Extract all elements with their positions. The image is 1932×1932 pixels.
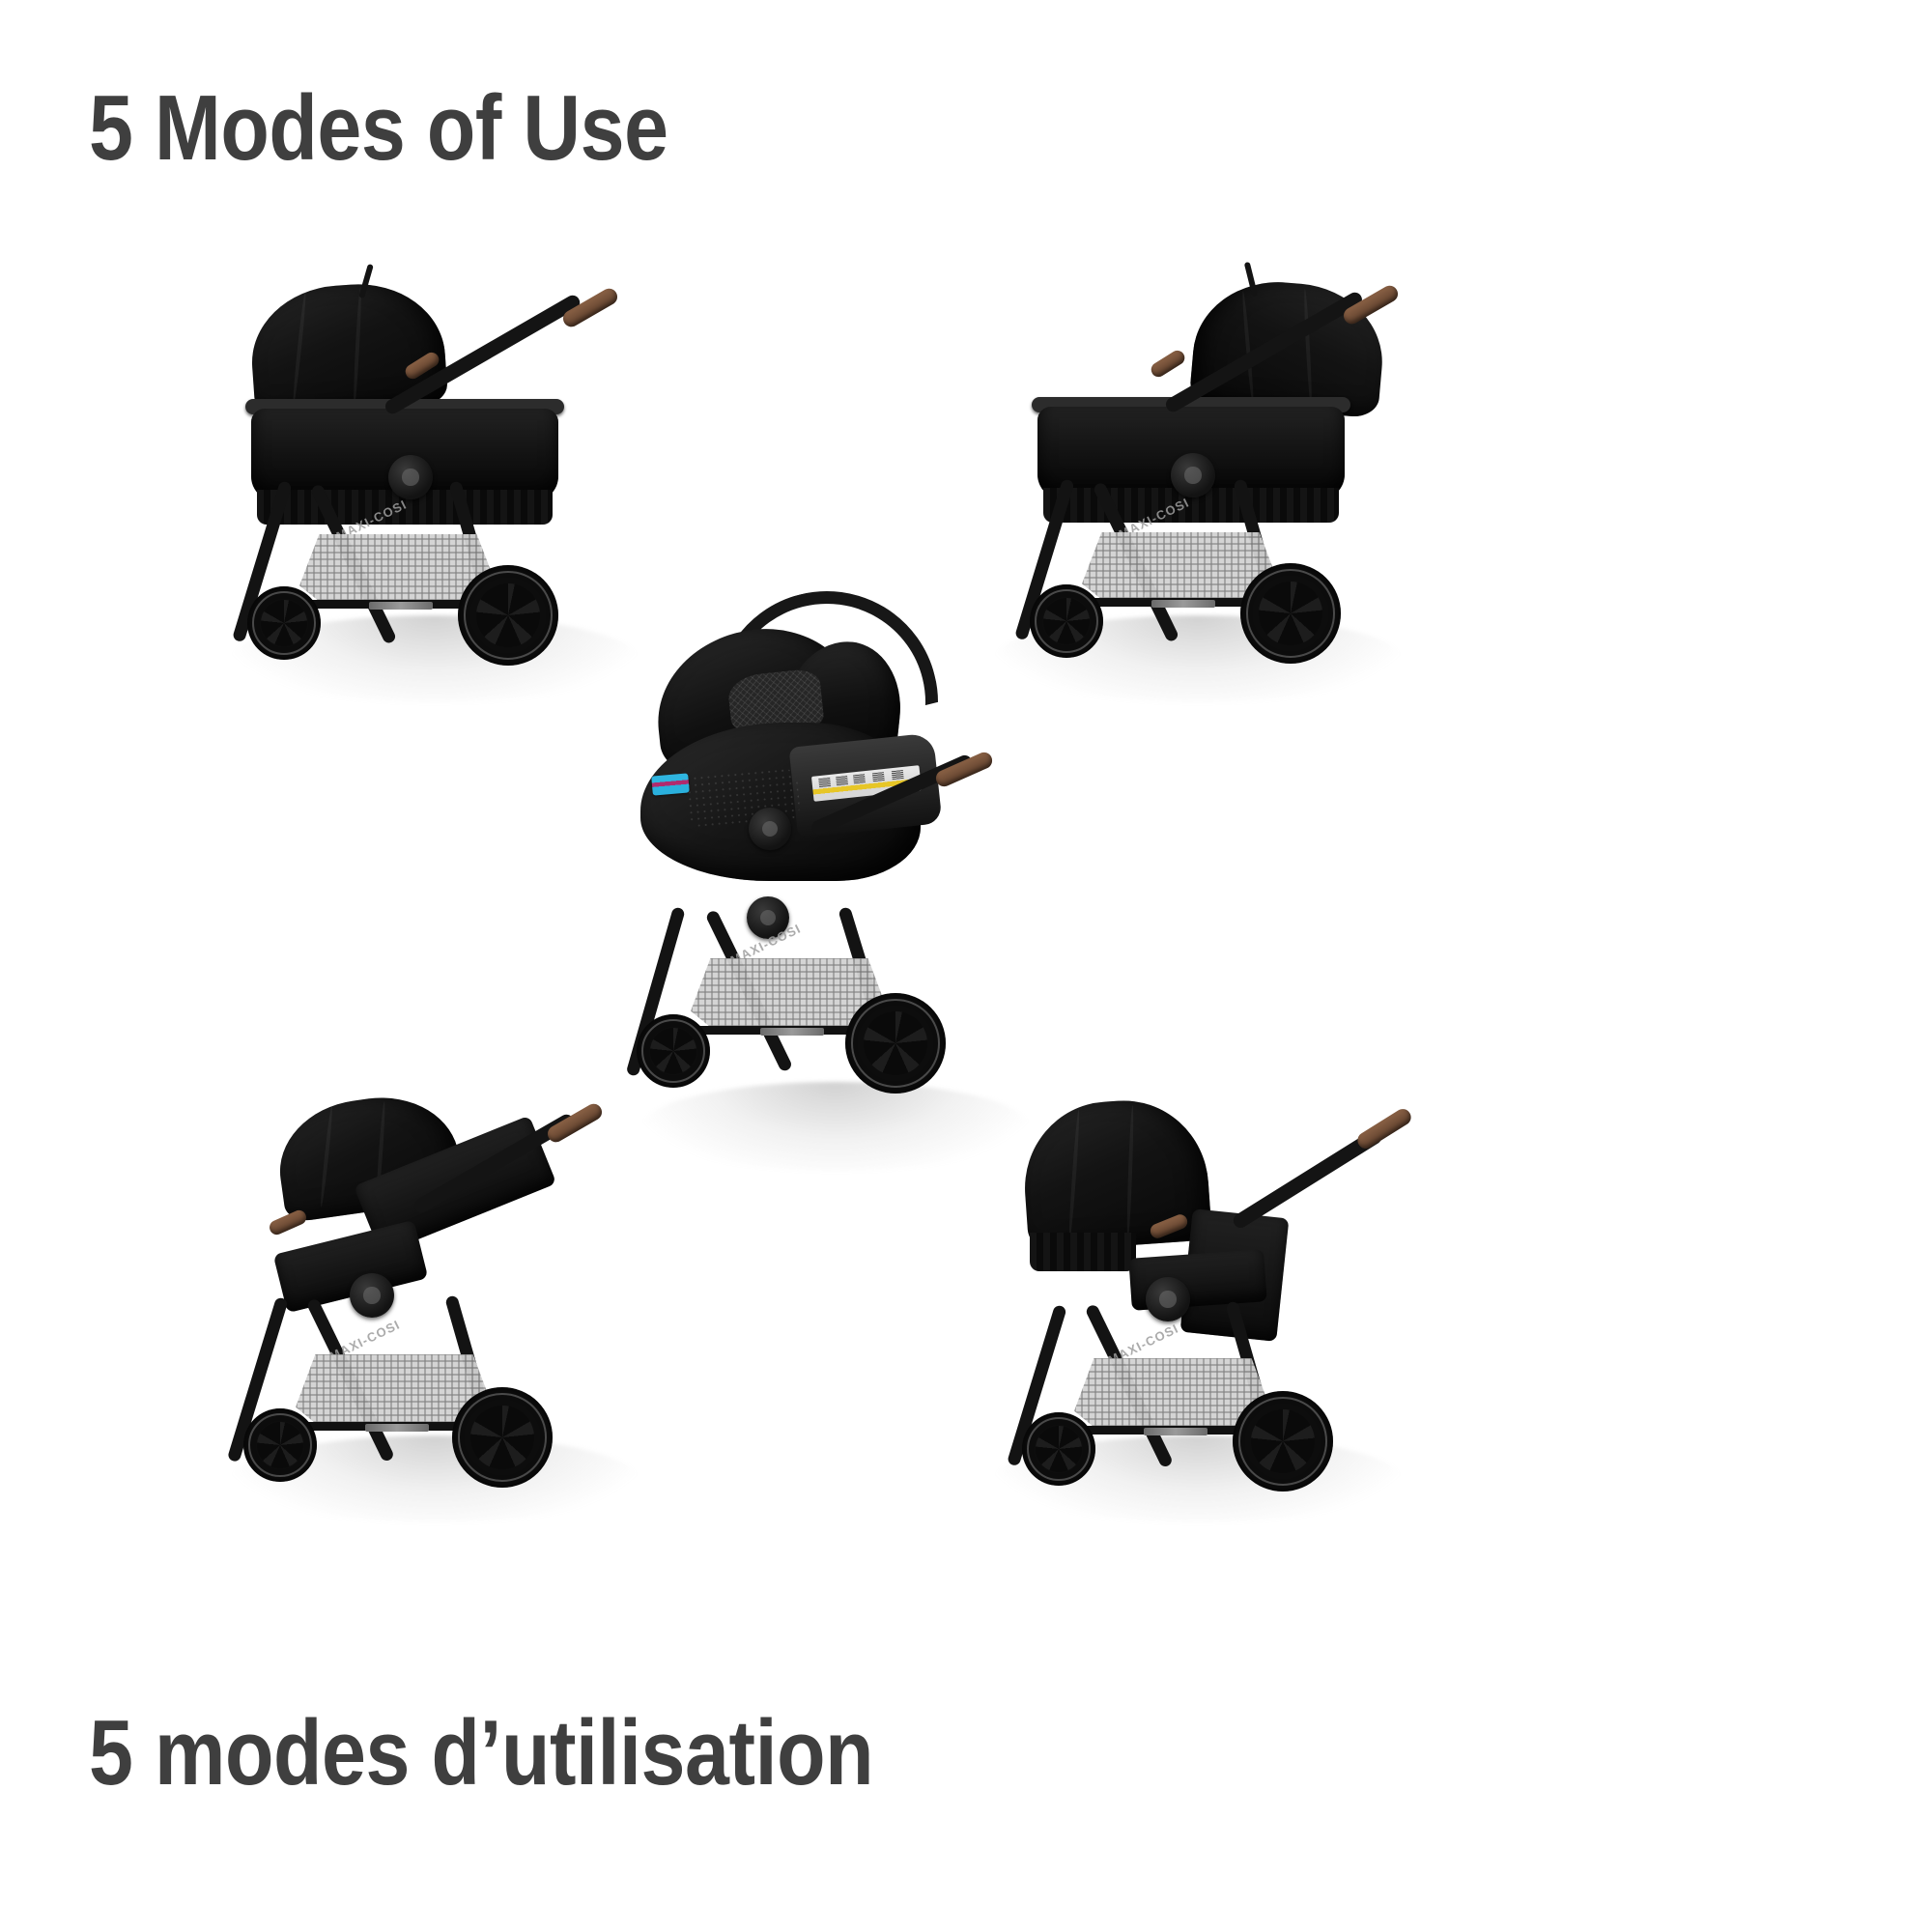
front-wheel <box>247 586 321 660</box>
seat-attachment-hub[interactable] <box>388 455 433 499</box>
seat-attachment-hub[interactable] <box>350 1273 394 1318</box>
release-grip[interactable] <box>1149 348 1187 380</box>
rear-wheel <box>845 993 946 1094</box>
rear-wheel <box>458 565 558 666</box>
page-title-top: 5 Modes of Use <box>89 75 668 182</box>
canopy <box>1019 1095 1212 1253</box>
car-seat-adapter-hub[interactable] <box>749 808 791 850</box>
product-seat-world-facing: MAXI-COSI <box>1005 1092 1546 1594</box>
brand-hub-icon <box>760 910 777 926</box>
brand-hub-icon <box>762 821 779 838</box>
front-wheel <box>637 1014 710 1088</box>
basket-reflector <box>760 1028 824 1036</box>
canopy-skirt <box>1030 1233 1136 1271</box>
brand-hub-icon <box>402 469 418 485</box>
handlebar-grip[interactable] <box>1354 1106 1414 1151</box>
brand-hub-icon <box>1184 467 1201 483</box>
front-wheel <box>1022 1412 1095 1486</box>
shell-label-sticker <box>651 773 690 795</box>
product-seat-parent-facing: MAXI-COSI <box>241 1092 782 1594</box>
rear-wheel <box>1233 1391 1333 1492</box>
basket-reflector <box>365 1424 429 1432</box>
brand-hub-icon <box>363 1287 380 1303</box>
seat-attachment-hub[interactable] <box>1146 1277 1190 1321</box>
basket-reflector <box>1151 600 1215 608</box>
front-wheel <box>243 1408 317 1482</box>
page-title-bottom: 5 modes d’utilisation <box>89 1700 873 1806</box>
basket-reflector <box>1144 1428 1207 1435</box>
brand-hub-icon <box>1159 1291 1176 1307</box>
rear-wheel <box>1240 563 1341 664</box>
basket-reflector <box>369 602 433 610</box>
seat-attachment-hub[interactable] <box>1171 453 1215 497</box>
rear-wheel <box>452 1387 553 1488</box>
